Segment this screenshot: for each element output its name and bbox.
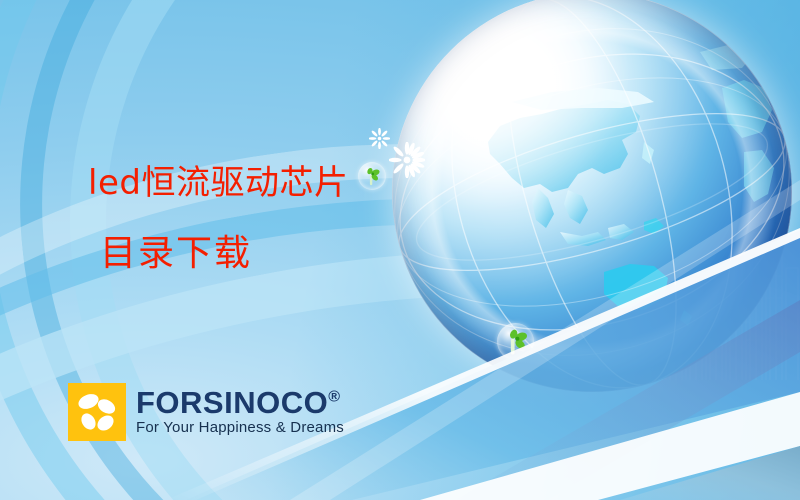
logo-tagline: For Your Happiness & Dreams — [136, 420, 344, 437]
bubble-windmill-left-icon — [358, 162, 386, 190]
forsinoco-pinwheel-mark-icon — [68, 383, 126, 441]
bubble-windmill-bottom-icon — [497, 323, 534, 360]
logo-wordmark: FORSINOCO® — [136, 387, 344, 419]
earth-globe-icon — [392, 0, 792, 392]
headline-line-1: led恒流驱动芯片 — [88, 166, 348, 200]
promo-banner: led恒流驱动芯片 目录下载 FORSINOCO® For Your Happi… — [0, 0, 800, 500]
headline-text: led恒流驱动芯片 目录下载 — [88, 166, 348, 272]
brand-logo[interactable]: FORSINOCO® For Your Happiness & Dreams — [68, 383, 344, 441]
headline-line-2: 目录下载 — [100, 236, 348, 272]
globe-graticule — [392, 0, 792, 392]
logo-text-block: FORSINOCO® For Your Happiness & Dreams — [136, 387, 344, 436]
logo-wordmark-text: FORSINOCO — [136, 385, 328, 420]
globe-sphere — [392, 0, 792, 392]
registered-trademark-icon: ® — [328, 389, 340, 406]
